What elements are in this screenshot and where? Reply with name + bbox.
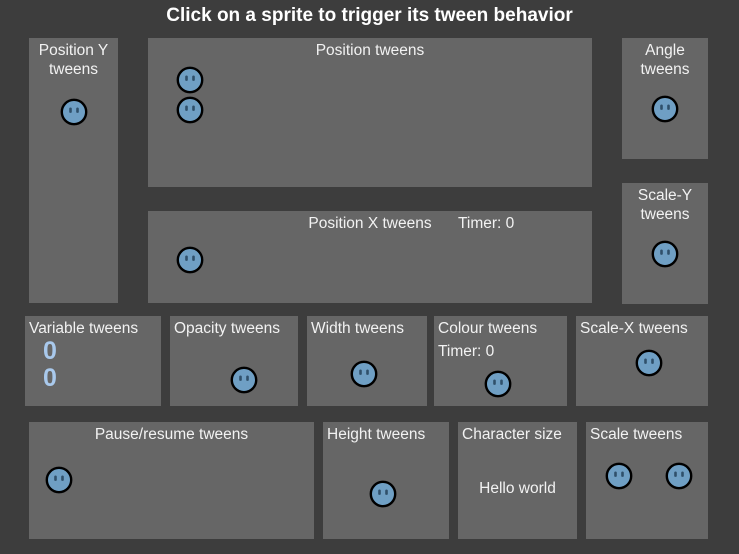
panel-pause-resume-tweens: Pause/resume tweens: [29, 422, 314, 539]
panel-opacity-tweens: Opacity tweens: [170, 316, 298, 406]
sprite-position-x-tweens-1[interactable]: [176, 246, 204, 274]
sprite-scale-tweens-2[interactable]: [665, 462, 693, 490]
panel-position-x-tweens: Position X tweensTimer: 0: [148, 211, 592, 303]
variable-value-2: 0: [43, 365, 57, 391]
panel-position-y-tweens: Position Y tweens: [29, 38, 118, 303]
character-size-text[interactable]: Hello world: [458, 479, 577, 498]
timer-readout-colour-tweens: Timer: 0: [438, 342, 494, 361]
panel-label-scale-y-tweens: Scale-Y tweens: [622, 186, 708, 224]
panel-angle-tweens: Angle tweens: [622, 38, 708, 159]
sprite-scale-x-tweens-1[interactable]: [635, 349, 663, 377]
panel-label-width-tweens: Width tweens: [311, 319, 404, 338]
panel-label-pause-resume-tweens: Pause/resume tweens: [29, 425, 314, 444]
panel-label-scale-x-tweens: Scale-X tweens: [580, 319, 688, 338]
sprite-scale-tweens-1[interactable]: [605, 462, 633, 490]
sprite-position-tweens-1[interactable]: [176, 66, 204, 94]
panel-scale-x-tweens: Scale-X tweens: [576, 316, 708, 406]
sprite-position-tweens-2[interactable]: [176, 96, 204, 124]
panel-scale-y-tweens: Scale-Y tweens: [622, 183, 708, 304]
panel-position-tweens: Position tweens: [148, 38, 592, 187]
sprite-opacity-tweens-1[interactable]: [230, 366, 258, 394]
panel-label-variable-tweens: Variable tweens: [29, 319, 138, 338]
panel-label-position-x-tweens: Position X tweens: [148, 214, 592, 233]
sprite-colour-tweens-1[interactable]: [484, 370, 512, 398]
panel-variable-tweens: Variable tweens00: [25, 316, 161, 406]
sprite-height-tweens-1[interactable]: [369, 480, 397, 508]
sprite-width-tweens-1[interactable]: [350, 360, 378, 388]
sprite-angle-tweens-1[interactable]: [651, 95, 679, 123]
timer-readout-position-x-tweens: Timer: 0: [458, 214, 514, 233]
panel-label-scale-tweens: Scale tweens: [590, 425, 682, 444]
panel-label-position-tweens: Position tweens: [148, 41, 592, 60]
sprite-pause-resume-tweens-1[interactable]: [45, 466, 73, 494]
panel-character-size: Character sizeHello world: [458, 422, 577, 539]
panel-scale-tweens: Scale tweens: [586, 422, 708, 539]
page-title: Click on a sprite to trigger its tween b…: [0, 5, 739, 27]
panel-label-height-tweens: Height tweens: [327, 425, 425, 444]
panel-label-opacity-tweens: Opacity tweens: [174, 319, 280, 338]
panel-height-tweens: Height tweens: [323, 422, 449, 539]
panel-label-angle-tweens: Angle tweens: [622, 41, 708, 79]
panel-colour-tweens: Colour tweensTimer: 0: [434, 316, 567, 406]
sprite-scale-y-tweens-1[interactable]: [651, 240, 679, 268]
panel-label-character-size: Character size: [462, 425, 562, 444]
sprite-position-y-tweens-1[interactable]: [60, 98, 88, 126]
tween-demo-stage: Click on a sprite to trigger its tween b…: [0, 0, 739, 554]
panel-width-tweens: Width tweens: [307, 316, 427, 406]
panel-label-colour-tweens: Colour tweens: [438, 319, 537, 338]
panel-label-position-y-tweens: Position Y tweens: [29, 41, 118, 79]
variable-value-1: 0: [43, 338, 57, 364]
